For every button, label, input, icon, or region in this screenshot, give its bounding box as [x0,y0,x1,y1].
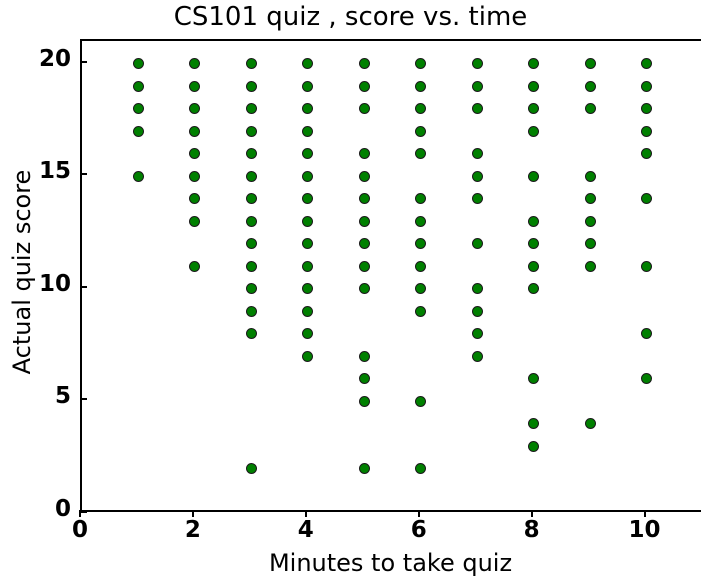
data-point [302,58,313,69]
data-point [641,148,652,159]
data-point [359,283,370,294]
data-point [246,171,257,182]
data-point [246,283,257,294]
data-point [302,351,313,362]
y-axis-label: Actual quiz score [8,32,36,512]
data-point [189,58,200,69]
x-axis-label: Minutes to take quiz [80,549,701,577]
data-point [302,328,313,339]
data-point [246,306,257,317]
data-point [528,418,539,429]
data-point [472,148,483,159]
data-point [415,126,426,137]
data-point [302,216,313,227]
data-point [359,171,370,182]
data-point [415,306,426,317]
data-point [472,283,483,294]
data-point [472,328,483,339]
data-point [528,103,539,114]
data-point [359,238,370,249]
data-point [359,373,370,384]
data-point [133,81,144,92]
data-point [302,306,313,317]
data-point [472,81,483,92]
data-point [415,396,426,407]
data-point [641,81,652,92]
data-point [415,238,426,249]
data-point [359,81,370,92]
data-point [359,103,370,114]
x-tick-label: 6 [389,517,449,543]
data-point [246,81,257,92]
y-tick-mark [80,511,87,513]
data-point [246,463,257,474]
y-tick-mark [80,398,87,400]
data-point [415,81,426,92]
data-point [133,171,144,182]
data-point [246,148,257,159]
x-tick-label: 4 [276,517,336,543]
data-point [246,238,257,249]
page-title: CS101 quiz , score vs. time [0,2,701,32]
data-point [585,193,596,204]
data-point [641,58,652,69]
y-tick-mark [80,61,87,63]
data-point [359,148,370,159]
data-point [528,238,539,249]
data-point [585,261,596,272]
data-point [641,328,652,339]
data-point [415,193,426,204]
data-point [641,261,652,272]
data-point [302,148,313,159]
data-point [302,283,313,294]
data-point [189,148,200,159]
data-point [302,103,313,114]
data-point [189,171,200,182]
data-point [641,126,652,137]
data-point [528,261,539,272]
data-point [359,351,370,362]
data-point [133,58,144,69]
plot-area [80,39,701,512]
data-point [585,216,596,227]
data-point [415,463,426,474]
scatter-plot-figure: CS101 quiz , score vs. time 0246810 0510… [0,0,701,587]
data-point [302,126,313,137]
x-tick-mark [418,510,420,517]
data-point [246,58,257,69]
data-point [415,216,426,227]
x-tick-label: 10 [615,517,675,543]
data-point [189,126,200,137]
data-point [133,126,144,137]
x-tick-mark [531,510,533,517]
data-point [246,126,257,137]
data-point [415,148,426,159]
y-tick-mark [80,173,87,175]
x-tick-label: 8 [502,517,562,543]
data-point [133,103,144,114]
y-tick-mark [80,286,87,288]
data-point [246,261,257,272]
data-point [302,261,313,272]
data-point [472,306,483,317]
data-point [302,171,313,182]
data-point [641,373,652,384]
data-point [585,238,596,249]
data-point [472,238,483,249]
data-point [472,171,483,182]
data-point [472,351,483,362]
data-point [302,81,313,92]
data-point [359,58,370,69]
data-point [472,193,483,204]
data-point [246,216,257,227]
data-point [585,58,596,69]
data-point [302,238,313,249]
data-point [585,171,596,182]
data-point [528,171,539,182]
data-point [528,81,539,92]
x-tick-mark [192,510,194,517]
data-point [415,103,426,114]
x-tick-label: 2 [163,517,223,543]
data-point [189,261,200,272]
data-point [189,81,200,92]
data-point [472,58,483,69]
data-point [528,126,539,137]
data-point [189,193,200,204]
data-point [585,81,596,92]
data-point [528,373,539,384]
data-point [472,103,483,114]
data-point [585,103,596,114]
data-point [302,193,313,204]
data-point [528,441,539,452]
data-point [528,216,539,227]
data-point [359,193,370,204]
data-point [359,396,370,407]
data-point [641,103,652,114]
x-tick-mark [305,510,307,517]
x-tick-mark [644,510,646,517]
data-point [359,463,370,474]
data-point [189,216,200,227]
data-point [189,103,200,114]
data-point [415,261,426,272]
data-point [415,58,426,69]
data-point [641,193,652,204]
data-point [528,283,539,294]
data-point [415,283,426,294]
data-point [246,103,257,114]
data-point [359,216,370,227]
data-point [359,261,370,272]
data-point [528,58,539,69]
data-point [585,418,596,429]
data-point [246,328,257,339]
data-points-layer [82,41,701,510]
data-point [246,193,257,204]
